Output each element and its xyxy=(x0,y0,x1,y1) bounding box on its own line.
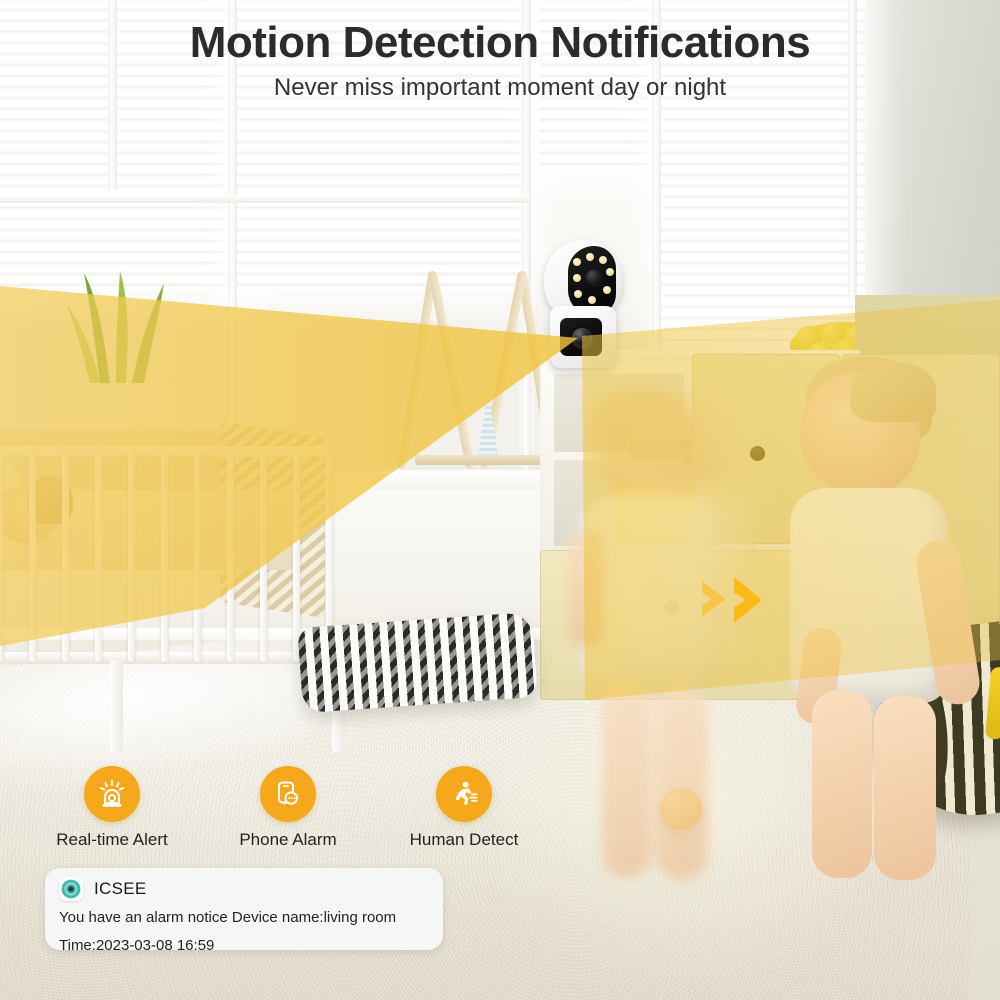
page-title: Motion Detection Notifications xyxy=(0,18,1000,67)
potted-plant xyxy=(60,265,190,385)
siren-alarm-icon xyxy=(97,779,127,809)
page-subtitle: Never miss important moment day or night xyxy=(0,74,1000,102)
toddler-standing xyxy=(778,360,998,880)
feature-label: Real-time Alert xyxy=(42,830,182,850)
phone-message-icon xyxy=(273,779,303,809)
chevron-pillow xyxy=(297,612,537,713)
chevron-icon xyxy=(702,581,726,617)
running-person-icon-circle xyxy=(436,766,492,822)
baby-crib xyxy=(0,300,360,680)
window-mullion xyxy=(0,195,530,203)
security-camera-device xyxy=(536,240,632,370)
toddler-motion-ghost xyxy=(596,386,786,866)
motion-direction-arrows xyxy=(700,575,795,625)
icsee-lens-icon xyxy=(59,877,83,901)
notification-app-name: ICSEE xyxy=(94,879,147,899)
notification-card[interactable]: ICSEE You have an alarm notice Device na… xyxy=(45,868,443,950)
notification-time: Time:2023-03-08 16:59 xyxy=(59,935,429,957)
notification-message: You have an alarm notice Device name:liv… xyxy=(59,907,429,929)
notification-header: ICSEE xyxy=(59,877,429,901)
camera-bottom-lens xyxy=(572,328,592,348)
feature-label: Human Detect xyxy=(394,830,534,850)
camera-top-lens xyxy=(586,270,601,285)
chevron-icon xyxy=(734,577,762,623)
feature-item-human-detect[interactable]: Human Detect xyxy=(394,766,534,850)
feature-label: Phone Alarm xyxy=(218,830,358,850)
feature-list: Real-time Alert Phone Alarm xyxy=(42,766,534,850)
nursery-room-photo xyxy=(0,0,1000,1000)
siren-alarm-icon-circle xyxy=(84,766,140,822)
phone-message-icon-circle xyxy=(260,766,316,822)
feature-item-real-time-alert[interactable]: Real-time Alert xyxy=(42,766,182,850)
promo-image: Motion Detection Notifications Never mis… xyxy=(0,0,1000,1000)
running-person-icon xyxy=(449,779,479,809)
header: Motion Detection Notifications Never mis… xyxy=(0,18,1000,102)
feature-item-phone-alarm[interactable]: Phone Alarm xyxy=(218,766,358,850)
